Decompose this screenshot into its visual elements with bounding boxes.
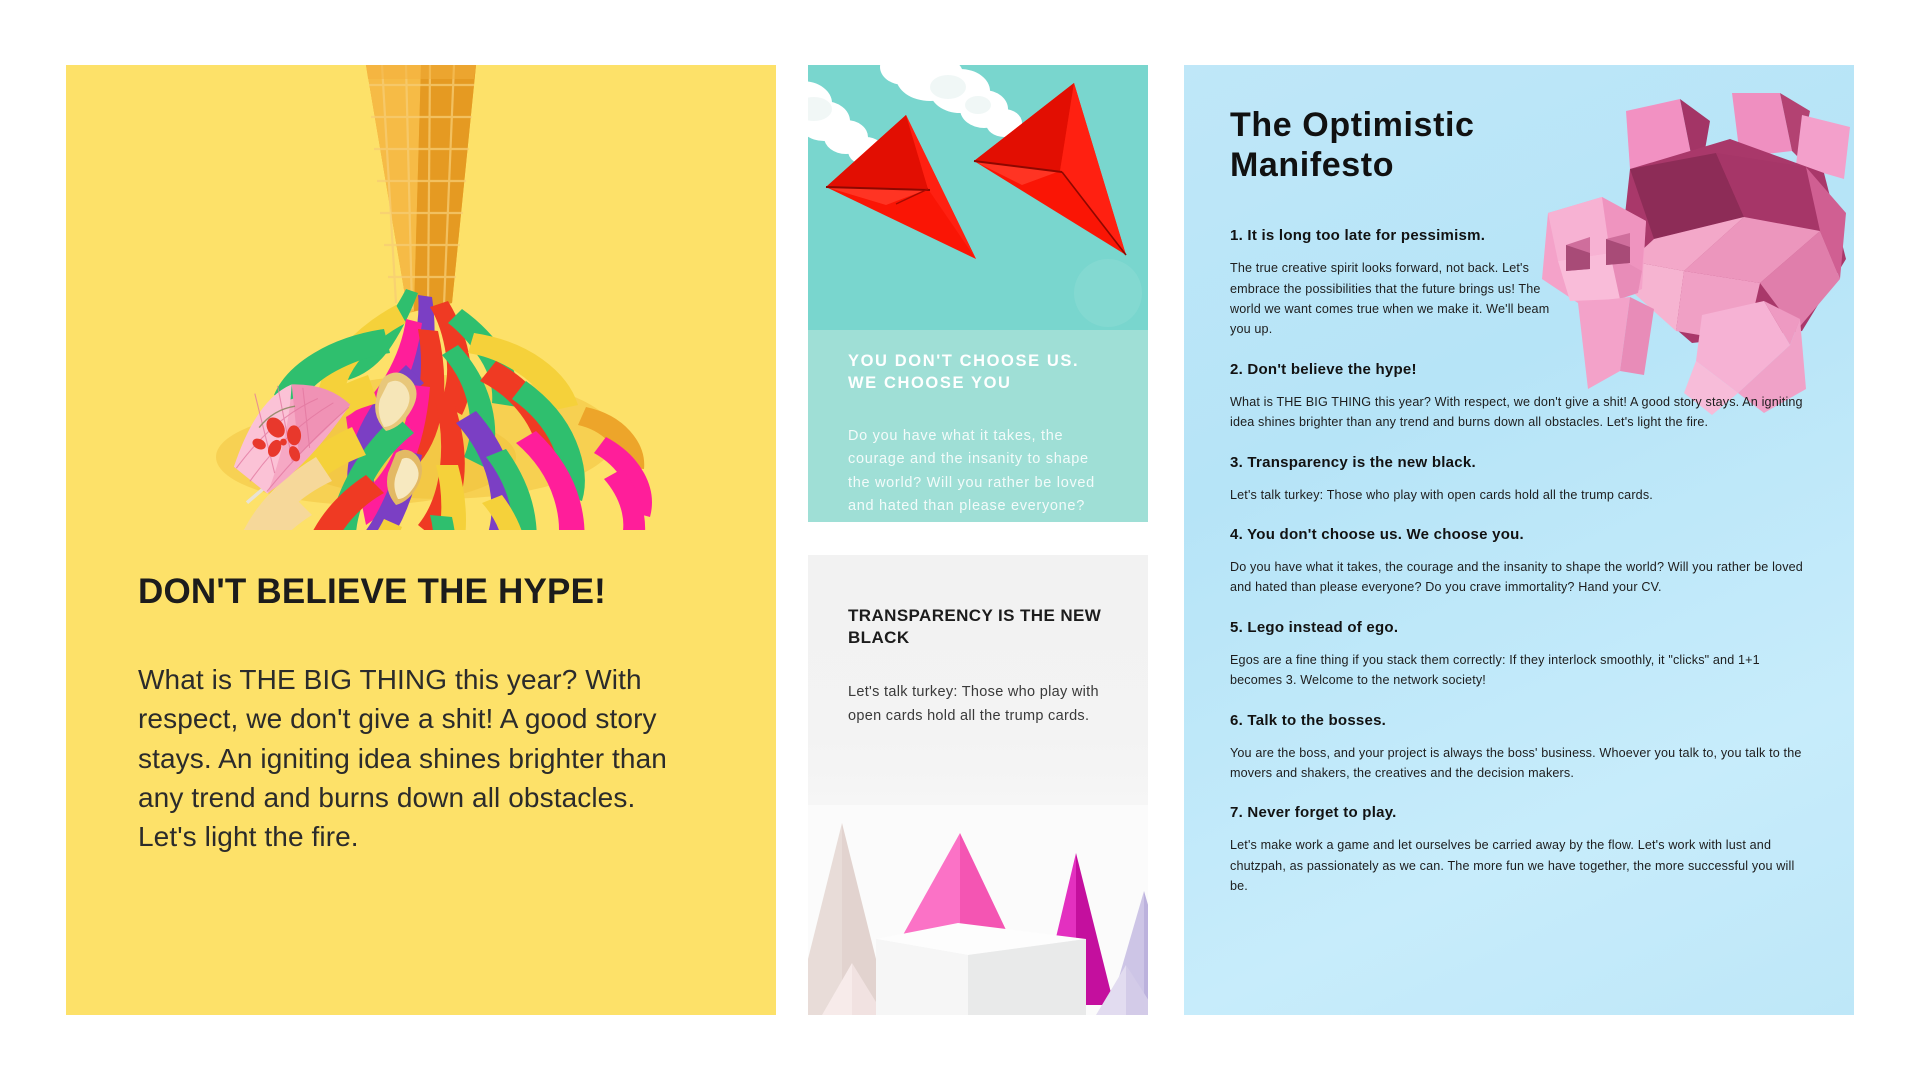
manifesto-item-6-body: You are the boss, and your project is al… — [1230, 743, 1808, 784]
manifesto-item-1: 1. It is long too late for pessimism. Th… — [1230, 227, 1808, 340]
manifesto-item-3-body: Let's talk turkey: Those who play with o… — [1230, 485, 1808, 505]
choose-body: Do you have what it takes, the courage a… — [848, 425, 1108, 522]
manifesto-item-5-head: 5. Lego instead of ego. — [1230, 619, 1808, 636]
hype-text-block: DON'T BELIEVE THE HYPE! What is THE BIG … — [66, 530, 776, 856]
manifesto-item-4-body: Do you have what it takes, the courage a… — [1230, 557, 1808, 598]
manifesto-title: The Optimistic Manifesto — [1230, 105, 1610, 185]
manifesto-item-3: 3. Transparency is the new black. Let's … — [1230, 454, 1808, 505]
manifesto-item-4: 4. You don't choose us. We choose you. D… — [1230, 526, 1808, 598]
manifesto-item-2: 2. Don't believe the hype! What is THE B… — [1230, 361, 1808, 433]
paper-pyramids-photo — [808, 805, 1148, 1015]
manifesto-item-5: 5. Lego instead of ego. Egos are a fine … — [1230, 619, 1808, 691]
hype-body: What is THE BIG THING this year? With re… — [138, 660, 668, 856]
choose-text-block: YOU DON'T CHOOSE US. WE CHOOSE YOU Do yo… — [808, 330, 1148, 522]
manifesto-item-1-body: The true creative spirit looks forward, … — [1230, 258, 1560, 340]
choose-headline: YOU DON'T CHOOSE US. WE CHOOSE YOU — [848, 350, 1108, 395]
manifesto-item-6: 6. Talk to the bosses. You are the boss,… — [1230, 712, 1808, 784]
hype-headline: DON'T BELIEVE THE HYPE! — [138, 572, 704, 612]
transparency-headline: TRANSPARENCY IS THE NEW BLACK — [848, 605, 1108, 649]
manifesto-item-4-head: 4. You don't choose us. We choose you. — [1230, 526, 1808, 543]
manifesto-item-3-head: 3. Transparency is the new black. — [1230, 454, 1808, 471]
manifesto-item-7-body: Let's make work a game and let ourselves… — [1230, 835, 1808, 896]
card-dont-believe-the-hype[interactable]: DON'T BELIEVE THE HYPE! What is THE BIG … — [66, 65, 776, 1015]
manifesto-item-6-head: 6. Talk to the bosses. — [1230, 712, 1808, 729]
ice-cream-cone-photo — [66, 65, 776, 530]
card-optimistic-manifesto[interactable]: The Optimistic Manifesto 1. It is long t… — [1184, 65, 1854, 1015]
paper-planes-photo — [808, 65, 1148, 330]
transparency-body: Let's talk turkey: Those who play with o… — [848, 681, 1108, 728]
manifesto-item-1-head: 1. It is long too late for pessimism. — [1230, 227, 1808, 244]
card-you-dont-choose-us[interactable]: YOU DON'T CHOOSE US. WE CHOOSE YOU Do yo… — [808, 65, 1148, 522]
poster-board: DON'T BELIEVE THE HYPE! What is THE BIG … — [0, 0, 1920, 1080]
manifesto-item-2-head: 2. Don't believe the hype! — [1230, 361, 1808, 378]
manifesto-item-7: 7. Never forget to play. Let's make work… — [1230, 804, 1808, 896]
manifesto-item-5-body: Egos are a fine thing if you stack them … — [1230, 650, 1808, 691]
manifesto-content: The Optimistic Manifesto 1. It is long t… — [1184, 65, 1854, 896]
manifesto-item-2-body: What is THE BIG THING this year? With re… — [1230, 392, 1808, 433]
manifesto-items-list: 1. It is long too late for pessimism. Th… — [1230, 227, 1808, 896]
manifesto-item-7-head: 7. Never forget to play. — [1230, 804, 1808, 821]
card-transparency-is-the-new-black[interactable]: TRANSPARENCY IS THE NEW BLACK Let's talk… — [808, 555, 1148, 1015]
transparency-text-block: TRANSPARENCY IS THE NEW BLACK Let's talk… — [808, 555, 1148, 728]
